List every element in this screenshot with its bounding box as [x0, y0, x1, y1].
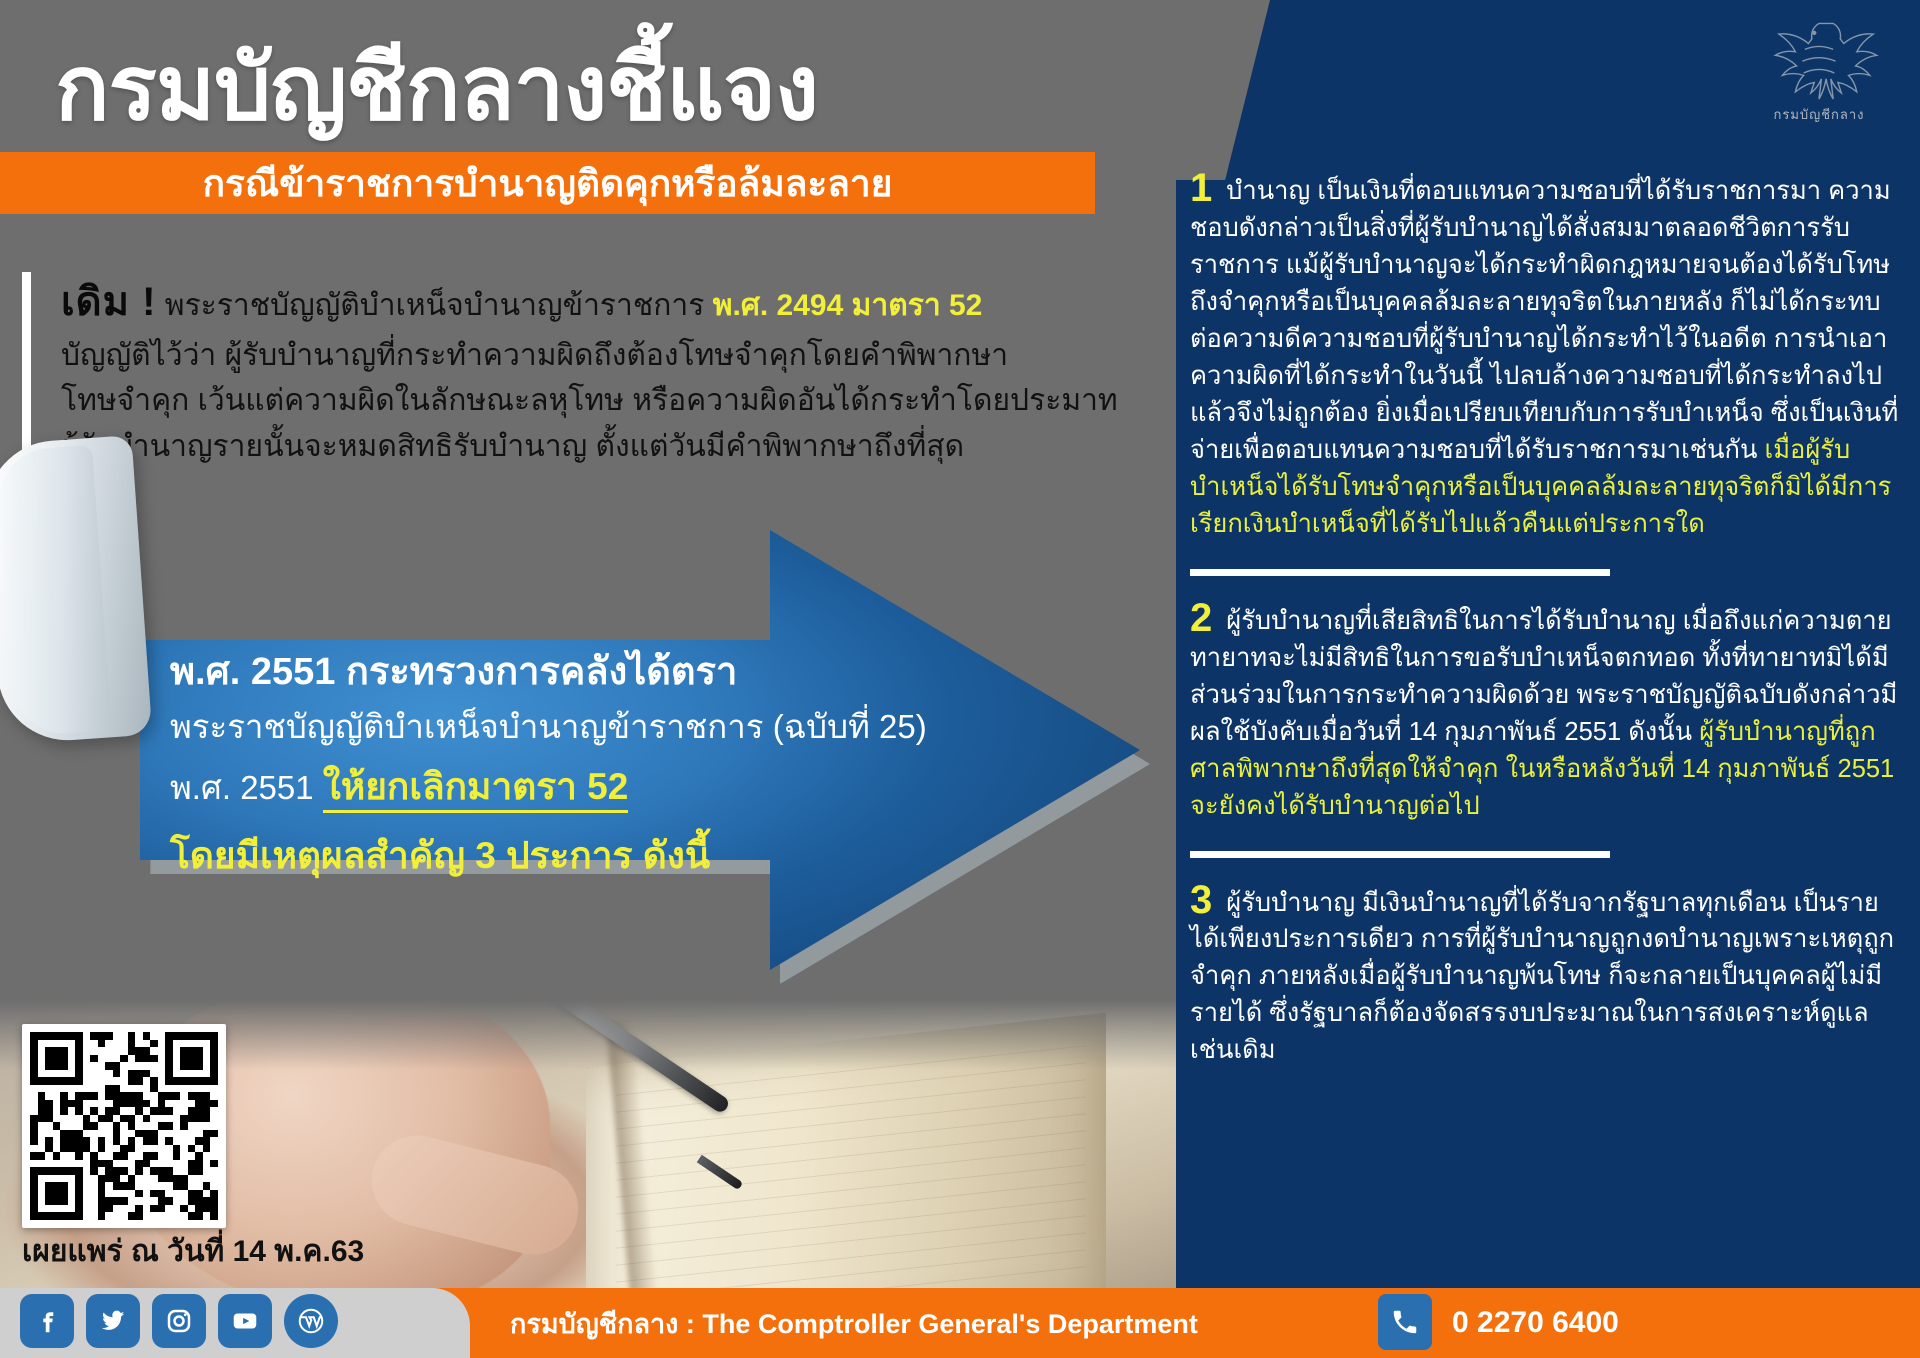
qr-cell	[150, 1032, 158, 1040]
qr-cell	[143, 1212, 151, 1220]
qr-cell	[98, 1145, 106, 1153]
qr-cell	[83, 1032, 91, 1040]
qr-cell	[60, 1175, 68, 1183]
qr-cell	[113, 1122, 121, 1130]
qr-cell	[165, 1115, 173, 1123]
reason-text: 2ผู้รับบำนาญที่เสียสิทธิในการได้รับบำนาญ…	[1190, 598, 1906, 825]
qr-cell	[150, 1145, 158, 1153]
qr-cell	[158, 1062, 166, 1070]
qr-cell	[68, 1070, 76, 1078]
qr-cell	[90, 1062, 98, 1070]
qr-cell	[98, 1167, 106, 1175]
qr-cell	[113, 1062, 121, 1070]
qr-cell	[90, 1047, 98, 1055]
qr-cell	[60, 1160, 68, 1168]
qr-cell	[30, 1070, 38, 1078]
qr-cell	[120, 1092, 128, 1100]
qr-cell	[143, 1077, 151, 1085]
qr-cell	[173, 1100, 181, 1108]
qr-cell	[68, 1212, 76, 1220]
qr-cell	[83, 1130, 91, 1138]
qr-cell	[135, 1182, 143, 1190]
qr-cell	[120, 1070, 128, 1078]
qr-cell	[195, 1092, 203, 1100]
qr-cell	[53, 1190, 61, 1198]
qr-cell	[68, 1115, 76, 1123]
qr-cell	[210, 1100, 218, 1108]
qr-cell	[83, 1070, 91, 1078]
qr-cell	[113, 1092, 121, 1100]
qr-cell	[165, 1167, 173, 1175]
qr-cell	[83, 1167, 91, 1175]
qr-cell	[98, 1197, 106, 1205]
qr-cell	[150, 1175, 158, 1183]
qr-cell	[30, 1212, 38, 1220]
qr-cell	[83, 1107, 91, 1115]
qr-cell	[105, 1175, 113, 1183]
qr-cell	[75, 1145, 83, 1153]
qr-cell	[128, 1122, 136, 1130]
qr-cell	[98, 1077, 106, 1085]
qr-cell	[143, 1205, 151, 1213]
qr-cell	[90, 1175, 98, 1183]
qr-cell	[45, 1107, 53, 1115]
qr-cell	[180, 1040, 188, 1048]
qr-cell	[90, 1100, 98, 1108]
qr-cell	[180, 1100, 188, 1108]
qr-cell	[98, 1182, 106, 1190]
qr-cell	[98, 1160, 106, 1168]
qr-cell	[173, 1047, 181, 1055]
qr-cell	[180, 1160, 188, 1168]
qr-cell	[195, 1152, 203, 1160]
qr-cell	[135, 1175, 143, 1183]
section-divider	[1190, 851, 1610, 858]
youtube-icon[interactable]	[218, 1294, 272, 1348]
qr-cell	[203, 1047, 211, 1055]
qr-cell	[68, 1032, 76, 1040]
qr-cell	[173, 1070, 181, 1078]
qr-cell	[195, 1032, 203, 1040]
qr-cell	[90, 1137, 98, 1145]
qr-cell	[68, 1062, 76, 1070]
qr-cell	[203, 1115, 211, 1123]
instagram-icon[interactable]	[152, 1294, 206, 1348]
qr-cell	[173, 1212, 181, 1220]
qr-cell	[75, 1100, 83, 1108]
qr-cell	[75, 1212, 83, 1220]
qr-cell	[68, 1107, 76, 1115]
qr-cell	[113, 1145, 121, 1153]
qr-cell	[105, 1107, 113, 1115]
qr-cell	[113, 1205, 121, 1213]
qr-cell	[150, 1122, 158, 1130]
qr-cell	[173, 1152, 181, 1160]
qr-cell	[165, 1160, 173, 1168]
qr-cell	[30, 1205, 38, 1213]
qr-cell	[45, 1122, 53, 1130]
qr-cell	[53, 1115, 61, 1123]
qr-cell	[188, 1055, 196, 1063]
twitter-icon[interactable]	[86, 1294, 140, 1348]
qr-cell	[180, 1190, 188, 1198]
qr-cell	[135, 1085, 143, 1093]
original-clause-line1-text: พระราชบัญญัติบำเหน็จบำนาญข้าราชการ	[156, 289, 712, 322]
qr-cell	[203, 1077, 211, 1085]
original-clause-line-3: โทษจำคุก เว้นแต่ความผิดในลักษณะลหุโทษ หร…	[61, 378, 1121, 424]
qr-cell	[128, 1130, 136, 1138]
qr-cell	[210, 1085, 218, 1093]
qr-cell	[113, 1182, 121, 1190]
qr-cell	[135, 1107, 143, 1115]
qr-cell	[75, 1167, 83, 1175]
qr-cell	[180, 1062, 188, 1070]
qr-cell	[180, 1077, 188, 1085]
qr-cell	[135, 1070, 143, 1078]
social-links[interactable]	[20, 1294, 338, 1348]
qr-cell	[38, 1040, 46, 1048]
qr-cell	[143, 1137, 151, 1145]
qr-cell	[38, 1122, 46, 1130]
qr-cell	[105, 1062, 113, 1070]
qr-cell	[195, 1107, 203, 1115]
qr-cell	[158, 1055, 166, 1063]
qr-cell	[98, 1190, 106, 1198]
qr-cell	[120, 1167, 128, 1175]
qr-cell	[158, 1092, 166, 1100]
qr-cell	[83, 1055, 91, 1063]
reason-number: 1	[1190, 168, 1212, 208]
qr-cell	[135, 1055, 143, 1063]
qr-cell	[45, 1047, 53, 1055]
qr-cell	[113, 1107, 121, 1115]
phone-number[interactable]: 0 2270 6400	[1452, 1288, 1619, 1358]
qr-cell	[203, 1167, 211, 1175]
qr-cell	[68, 1085, 76, 1093]
qr-cell	[105, 1077, 113, 1085]
qr-cell	[75, 1055, 83, 1063]
qr-cell	[210, 1047, 218, 1055]
qr-cell	[120, 1205, 128, 1213]
qr-cell	[150, 1160, 158, 1168]
qr-cell	[128, 1077, 136, 1085]
qr-cell	[75, 1152, 83, 1160]
qr-cell	[75, 1130, 83, 1138]
wordpress-icon[interactable]	[284, 1294, 338, 1348]
qr-cell	[188, 1137, 196, 1145]
qr-cell	[75, 1070, 83, 1078]
qr-cell	[135, 1047, 143, 1055]
qr-cell	[45, 1152, 53, 1160]
qr-cell	[75, 1040, 83, 1048]
qr-cell	[173, 1190, 181, 1198]
qr-cell	[173, 1107, 181, 1115]
qr-cell	[60, 1145, 68, 1153]
qr-cell	[83, 1175, 91, 1183]
qr-cell	[30, 1167, 38, 1175]
qr-cell	[188, 1197, 196, 1205]
qr-cell	[203, 1212, 211, 1220]
qr-cell	[53, 1145, 61, 1153]
qr-cell	[53, 1122, 61, 1130]
qr-cell	[143, 1092, 151, 1100]
arrow-line-2: พระราชบัญญัติบำเหน็จบำนาญข้าราชการ (ฉบับ…	[170, 703, 790, 751]
qr-cell	[98, 1070, 106, 1078]
qr-cell	[150, 1182, 158, 1190]
qr-cell	[188, 1175, 196, 1183]
qr-cell	[75, 1197, 83, 1205]
qr-cell	[143, 1160, 151, 1168]
qr-cell	[165, 1040, 173, 1048]
qr-cell	[180, 1047, 188, 1055]
qr-cell	[188, 1122, 196, 1130]
qr-cell	[68, 1137, 76, 1145]
qr-cell	[113, 1115, 121, 1123]
qr-cell	[113, 1077, 121, 1085]
qr-cell	[135, 1205, 143, 1213]
qr-cell	[165, 1122, 173, 1130]
qr-cell	[135, 1077, 143, 1085]
qr-cell	[188, 1107, 196, 1115]
qr-cell	[135, 1122, 143, 1130]
qr-code-grid	[30, 1032, 218, 1220]
qr-cell	[113, 1047, 121, 1055]
qr-cell	[150, 1107, 158, 1115]
qr-cell	[53, 1047, 61, 1055]
qr-cell	[105, 1085, 113, 1093]
qr-cell	[75, 1032, 83, 1040]
qr-cell	[38, 1197, 46, 1205]
qr-cell	[188, 1040, 196, 1048]
qr-cell	[150, 1055, 158, 1063]
qr-cell	[83, 1092, 91, 1100]
qr-cell	[75, 1122, 83, 1130]
qr-cell	[113, 1190, 121, 1198]
qr-cell	[143, 1107, 151, 1115]
qr-cell	[143, 1197, 151, 1205]
qr-cell	[98, 1092, 106, 1100]
qr-cell	[68, 1160, 76, 1168]
qr-cell	[195, 1212, 203, 1220]
qr-cell	[38, 1092, 46, 1100]
qr-cell	[30, 1115, 38, 1123]
qr-cell	[158, 1032, 166, 1040]
qr-cell	[120, 1100, 128, 1108]
qr-cell	[53, 1205, 61, 1213]
qr-cell	[150, 1115, 158, 1123]
qr-cell	[150, 1047, 158, 1055]
qr-cell	[98, 1115, 106, 1123]
qr-cell	[98, 1055, 106, 1063]
qr-cell	[60, 1122, 68, 1130]
qr-code[interactable]	[22, 1024, 226, 1228]
qr-cell	[83, 1152, 91, 1160]
qr-cell	[180, 1152, 188, 1160]
qr-cell	[105, 1197, 113, 1205]
qr-cell	[150, 1197, 158, 1205]
footer-org-text: กรมบัญชีกลาง : The Comptroller General's…	[510, 1288, 1198, 1358]
qr-cell	[143, 1040, 151, 1048]
qr-cell	[158, 1137, 166, 1145]
qr-cell	[180, 1212, 188, 1220]
qr-cell	[143, 1115, 151, 1123]
qr-cell	[210, 1122, 218, 1130]
qr-cell	[120, 1212, 128, 1220]
qr-cell	[210, 1062, 218, 1070]
qr-cell	[105, 1047, 113, 1055]
original-clause-line-1: เดิม ! พระราชบัญญัติบำเหน็จบำนาญข้าราชกา…	[61, 272, 1121, 333]
reason-number: 3	[1190, 880, 1212, 920]
qr-cell	[188, 1167, 196, 1175]
qr-cell	[180, 1205, 188, 1213]
qr-cell	[120, 1145, 128, 1153]
qr-cell	[150, 1077, 158, 1085]
qr-cell	[53, 1100, 61, 1108]
qr-cell	[68, 1182, 76, 1190]
qr-cell	[173, 1077, 181, 1085]
qr-cell	[60, 1107, 68, 1115]
qr-cell	[128, 1070, 136, 1078]
qr-cell	[195, 1040, 203, 1048]
qr-cell	[150, 1190, 158, 1198]
qr-cell	[30, 1152, 38, 1160]
qr-cell	[203, 1182, 211, 1190]
qr-cell	[60, 1092, 68, 1100]
qr-cell	[105, 1167, 113, 1175]
qr-cell	[90, 1077, 98, 1085]
qr-cell	[45, 1062, 53, 1070]
qr-cell	[128, 1205, 136, 1213]
reason-item: 2ผู้รับบำนาญที่เสียสิทธิในการได้รับบำนาญ…	[1190, 598, 1906, 825]
qr-cell	[60, 1055, 68, 1063]
qr-cell	[90, 1055, 98, 1063]
qr-cell	[158, 1152, 166, 1160]
qr-cell	[38, 1062, 46, 1070]
qr-cell	[203, 1137, 211, 1145]
qr-cell	[45, 1115, 53, 1123]
qr-cell	[188, 1070, 196, 1078]
qr-cell	[165, 1085, 173, 1093]
qr-cell	[53, 1092, 61, 1100]
qr-cell	[38, 1175, 46, 1183]
qr-cell	[45, 1175, 53, 1183]
qr-cell	[113, 1160, 121, 1168]
qr-cell	[90, 1212, 98, 1220]
qr-cell	[210, 1115, 218, 1123]
qr-cell	[98, 1032, 106, 1040]
qr-cell	[98, 1040, 106, 1048]
qr-cell	[30, 1182, 38, 1190]
facebook-icon[interactable]	[20, 1294, 74, 1348]
qr-cell	[210, 1152, 218, 1160]
qr-cell	[128, 1137, 136, 1145]
qr-cell	[195, 1047, 203, 1055]
original-clause-block: เดิม ! พระราชบัญญัติบำเหน็จบำนาญข้าราชกา…	[22, 272, 1121, 470]
qr-cell	[60, 1197, 68, 1205]
qr-cell	[105, 1122, 113, 1130]
qr-cell	[30, 1145, 38, 1153]
qr-cell	[143, 1190, 151, 1198]
qr-cell	[68, 1167, 76, 1175]
qr-cell	[203, 1032, 211, 1040]
qr-cell	[195, 1145, 203, 1153]
qr-cell	[53, 1182, 61, 1190]
qr-cell	[173, 1175, 181, 1183]
qr-cell	[195, 1197, 203, 1205]
publish-date: เผยแพร่ ณ วันที่ 14 พ.ค.63	[22, 1228, 364, 1275]
qr-cell	[128, 1190, 136, 1198]
qr-cell	[75, 1190, 83, 1198]
qr-cell	[135, 1152, 143, 1160]
qr-cell	[105, 1032, 113, 1040]
qr-cell	[30, 1197, 38, 1205]
qr-cell	[158, 1115, 166, 1123]
qr-cell	[150, 1062, 158, 1070]
qr-cell	[83, 1122, 91, 1130]
qr-cell	[180, 1175, 188, 1183]
qr-cell	[180, 1167, 188, 1175]
qr-cell	[143, 1145, 151, 1153]
qr-cell	[210, 1092, 218, 1100]
qr-cell	[113, 1152, 121, 1160]
qr-cell	[128, 1152, 136, 1160]
qr-cell	[113, 1130, 121, 1138]
qr-cell	[203, 1205, 211, 1213]
qr-cell	[150, 1092, 158, 1100]
qr-cell	[53, 1137, 61, 1145]
phone-glyph	[1390, 1307, 1420, 1337]
qr-cell	[75, 1092, 83, 1100]
qr-cell	[105, 1115, 113, 1123]
qr-cell	[45, 1167, 53, 1175]
qr-cell	[98, 1152, 106, 1160]
qr-cell	[120, 1040, 128, 1048]
qr-cell	[128, 1040, 136, 1048]
qr-cell	[158, 1190, 166, 1198]
qr-cell	[188, 1145, 196, 1153]
qr-cell	[38, 1152, 46, 1160]
qr-cell	[158, 1085, 166, 1093]
reason-text: 1บำนาญ เป็นเงินที่ตอบแทนความชอบที่ได้รับ…	[1190, 168, 1906, 543]
qr-cell	[195, 1115, 203, 1123]
qr-cell	[210, 1040, 218, 1048]
arrow-line-3: พ.ศ. 2551 ให้ยกเลิกมาตรา 52	[170, 760, 790, 814]
qr-cell	[150, 1070, 158, 1078]
qr-cell	[150, 1100, 158, 1108]
qr-cell	[128, 1047, 136, 1055]
qr-cell	[30, 1160, 38, 1168]
qr-cell	[53, 1107, 61, 1115]
qr-cell	[120, 1055, 128, 1063]
qr-cell	[90, 1130, 98, 1138]
subtitle-bar: กรณีข้าราชการบำนาญติดคุกหรือล้มละลาย	[0, 152, 1095, 214]
qr-cell	[45, 1212, 53, 1220]
qr-cell	[120, 1077, 128, 1085]
qr-cell	[203, 1190, 211, 1198]
qr-cell	[120, 1160, 128, 1168]
qr-cell	[60, 1100, 68, 1108]
qr-cell	[203, 1092, 211, 1100]
qr-cell	[195, 1190, 203, 1198]
qr-cell	[128, 1115, 136, 1123]
phone-icon	[1378, 1294, 1432, 1350]
qr-cell	[158, 1182, 166, 1190]
qr-cell	[105, 1092, 113, 1100]
qr-cell	[98, 1137, 106, 1145]
arrow-line-3-prefix: พ.ศ. 2551	[170, 769, 323, 806]
qr-cell	[53, 1167, 61, 1175]
qr-cell	[105, 1137, 113, 1145]
